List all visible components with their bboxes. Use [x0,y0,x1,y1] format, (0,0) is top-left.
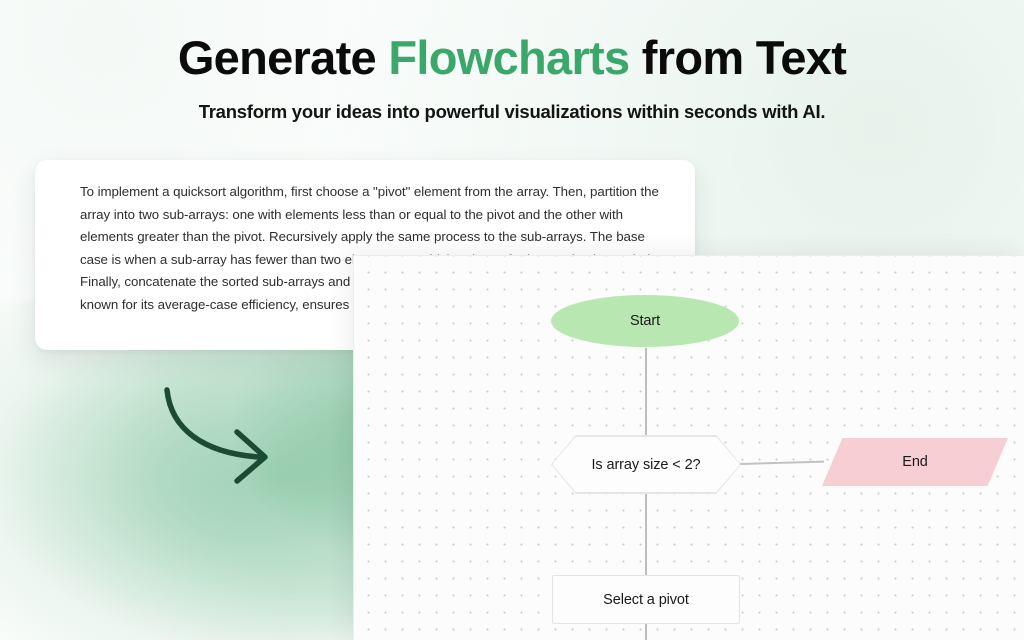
flow-node-decision[interactable]: Is array size < 2? [552,436,740,493]
connector-decision-to-process [645,494,647,575]
flow-node-select-pivot-label: Select a pivot [603,592,689,608]
curved-arrow-right-icon [155,385,285,495]
landing-page: Generate Flowcharts from Text Transform … [0,0,1024,640]
connector-start-to-decision [645,348,647,436]
flow-node-end-label: End [902,454,928,470]
flow-node-start-label: Start [630,313,660,329]
page-title-part2: from Text [629,31,846,84]
flow-node-decision-label: Is array size < 2? [591,457,700,473]
page-title-part1: Generate [178,31,389,84]
page-title-accent: Flowcharts [388,31,629,84]
flow-node-start[interactable]: Start [551,295,739,347]
connector-process-下 [645,624,647,640]
hero-section: Generate Flowcharts from Text Transform … [0,0,1024,124]
page-title: Generate Flowcharts from Text [0,30,1024,86]
flowchart-canvas[interactable]: Start Is array size < 2? End Select a pi… [353,255,1024,640]
connector-decision-to-end [740,461,824,465]
page-subtitle: Transform your ideas into powerful visua… [0,100,1024,124]
flow-node-select-pivot[interactable]: Select a pivot [552,575,740,624]
flow-node-end[interactable]: End [822,438,1008,486]
